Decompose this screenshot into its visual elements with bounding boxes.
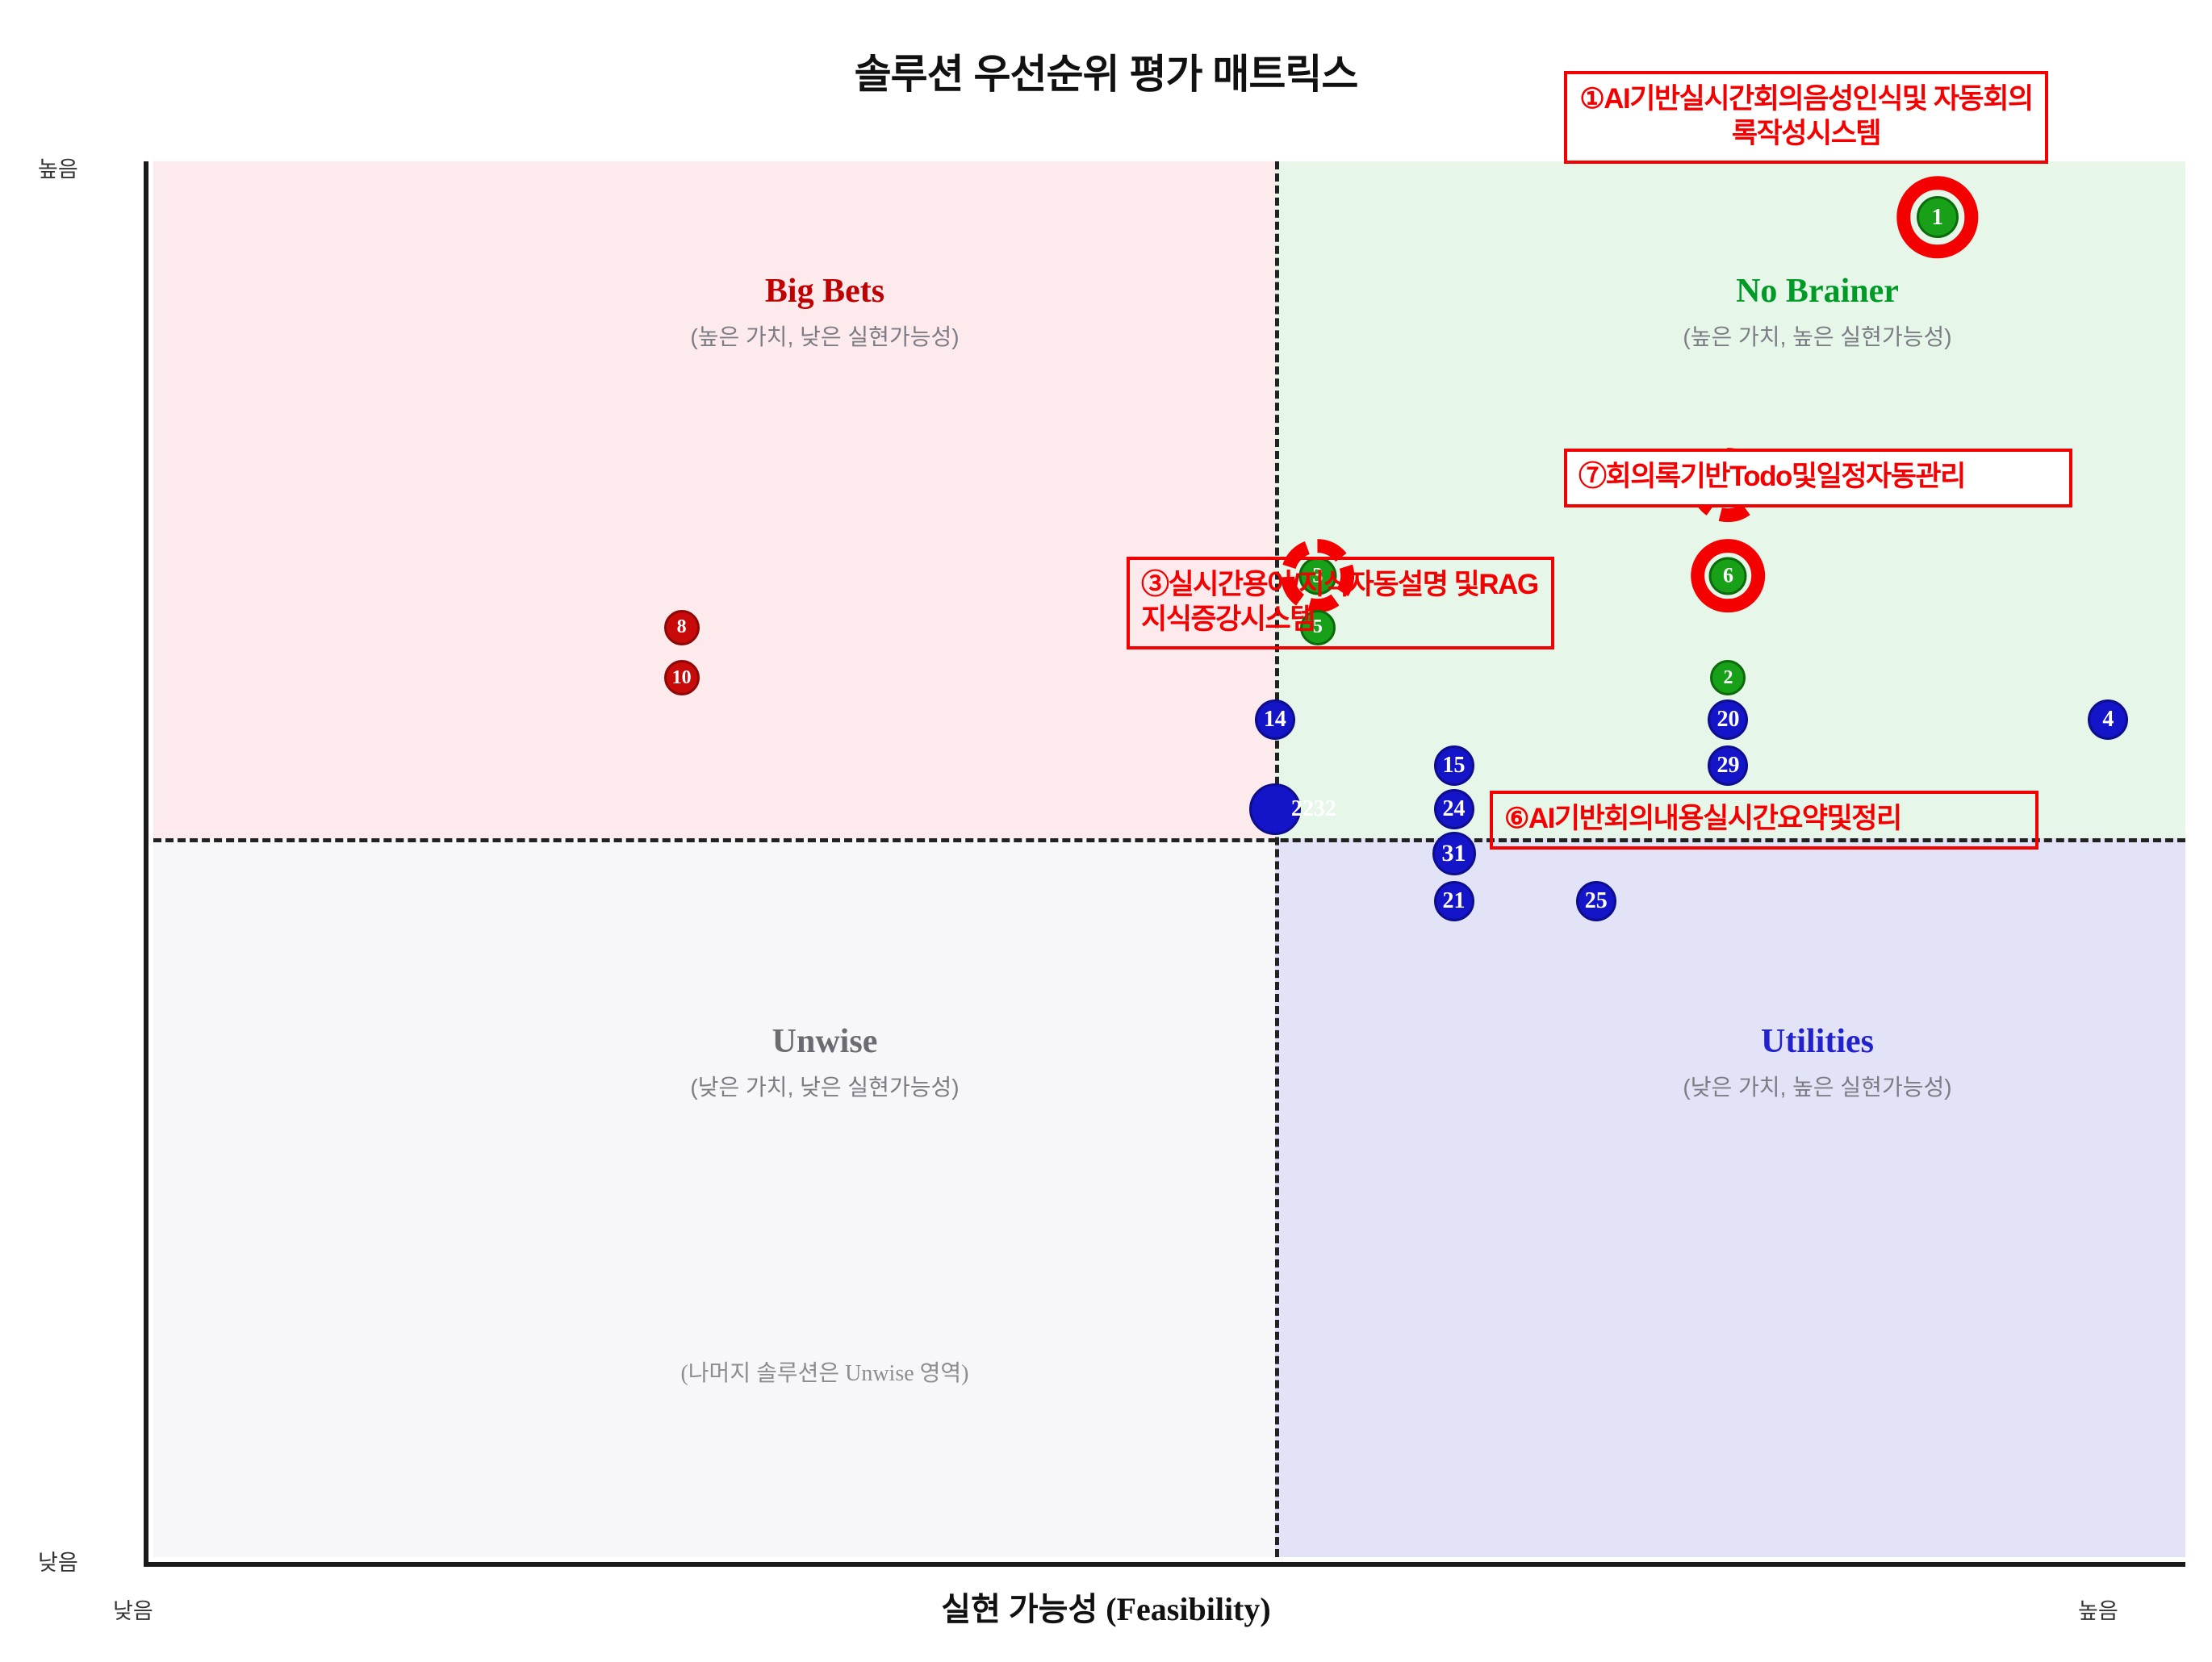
plot-inner: Big Bets (높은 가치, 낮은 실현가능성) No Brainer (높… xyxy=(153,161,2185,1557)
y-axis-tick-high: 높음 xyxy=(38,152,78,183)
data-point-31[interactable]: 31 xyxy=(1432,832,1476,875)
quadrant-big-bets xyxy=(153,161,1275,838)
plot-area: Big Bets (높은 가치, 낮은 실현가능성) No Brainer (높… xyxy=(144,161,2185,1567)
data-point-cluster-label-2232: 2232 xyxy=(1291,796,1336,822)
data-point-6[interactable]: 6 xyxy=(1709,557,1747,595)
data-point-29[interactable]: 29 xyxy=(1708,745,1748,786)
x-axis-tick-low: 낮음 xyxy=(113,1593,153,1625)
y-axis-tick-low: 낮음 xyxy=(38,1545,78,1576)
note-remaining-solutions: (나머지 솔루션은 Unwise 영역) xyxy=(599,1355,1051,1388)
callout-solution-7: ⑦회의록기반Todo및일정자동관리 xyxy=(1564,449,2072,507)
data-point-4[interactable]: 4 xyxy=(2088,699,2128,740)
x-axis-label: 실현 가능성 (Feasibility) xyxy=(0,1583,2212,1630)
data-point-25[interactable]: 25 xyxy=(1576,881,1616,921)
vertical-divider-line xyxy=(1275,161,1279,1557)
data-point-21[interactable]: 21 xyxy=(1434,881,1474,921)
data-point-8[interactable]: 8 xyxy=(664,610,700,645)
quadrant-utilities xyxy=(1275,838,2185,1557)
data-point-14[interactable]: 14 xyxy=(1255,699,1295,740)
data-point-24[interactable]: 24 xyxy=(1434,789,1474,829)
data-point-20[interactable]: 20 xyxy=(1708,699,1748,740)
callout-solution-6: ⑥AI기반회의내용실시간요약및정리 xyxy=(1490,791,2038,850)
data-point-15[interactable]: 15 xyxy=(1434,745,1474,786)
data-point-1[interactable]: 1 xyxy=(1917,196,1959,238)
callout-solution-3: ③실시간용어/지식자동설명 및RAG지식증강시스템 xyxy=(1127,557,1554,649)
x-axis-tick-high: 높음 xyxy=(2078,1593,2118,1625)
data-point-2[interactable]: 2 xyxy=(1710,660,1746,695)
data-point-10[interactable]: 10 xyxy=(664,660,700,695)
callout-solution-1: ①AI기반실시간회의음성인식및 자동회의록작성시스템 xyxy=(1564,71,2048,164)
quadrant-unwise xyxy=(153,838,1275,1557)
